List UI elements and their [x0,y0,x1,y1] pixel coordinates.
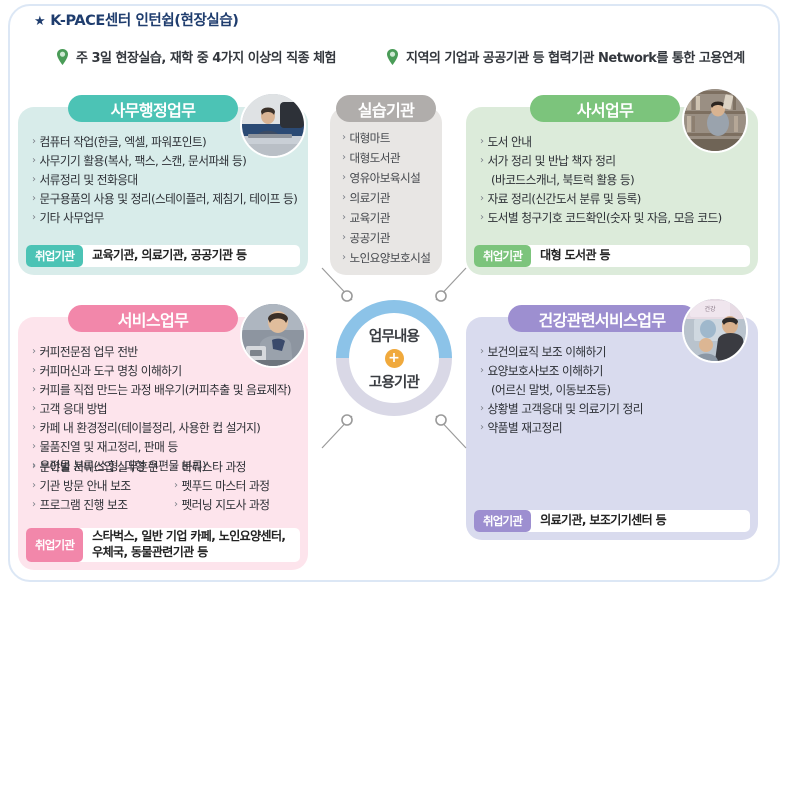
list-item-text: 서가 정리 및 반납 책자 정리 [487,152,615,171]
list-item-text: 펫러닝 지도사 과정 [181,496,269,515]
employer-value: 대형 도서관 등 [531,248,610,264]
bullet-dot-icon: › [480,133,483,150]
donut-hole: 업무내용 + 고용기관 [349,313,439,403]
center-bottom-label: 고용기관 [369,371,419,392]
list-item-text: 노인요양보호시설 [349,249,430,269]
bullet-dot-icon: › [32,152,35,169]
bullet-dot-icon: › [32,438,35,455]
location-pin-icon [386,49,399,65]
list-item-text: 상황별 고객응대 및 의료기기 정리 [487,400,643,419]
list-item-text: (어르신 말벗, 이동보조등) [491,381,611,400]
list-item-text: 공공기관 [349,229,389,249]
employer-badge: 취업기관 [26,528,83,562]
bullet-dot-icon: › [32,209,35,226]
card-office-title: 사무행정업무 [68,95,238,122]
list-item: ›서가 정리 및 반납 책자 정리 [480,152,748,171]
list-item-text: 카페 내 환경정리(테이블정리, 사용한 컵 설거지) [39,419,260,438]
page-title-text: K-PACE센터 인턴쉽(현장실습) [50,13,238,29]
card-library-employers: 취업기관 대형 도서관 등 [474,245,750,267]
list-item-continuation: ›(어르신 말벗, 이동보조등) [480,381,748,400]
list-item: ›대형마트 [342,129,436,149]
bullet-dot-icon: › [480,343,483,360]
list-item: ›의료기관 [342,189,436,209]
list-item-text: 기타 사무업무 [39,209,103,228]
bullet-dot-icon: › [480,190,483,207]
list-item: ›상황별 고객응대 및 의료기기 정리 [480,400,748,419]
list-item: ›우편물 분류(소형, 대형 우편물 분류) [32,457,298,476]
list-item: ›공공기관 [342,229,436,249]
healthcare-class-photo: 건강 [682,297,748,363]
bullet-dot-icon: › [342,249,345,266]
list-item: ›고객 응대 방법 [32,400,298,419]
list-item: ›문구용품의 사용 및 정리(스테이플러, 제침기, 테이프 등) [32,190,298,209]
list-item: ›약품별 재고정리 [480,419,748,438]
list-item: ›물품진열 및 재고정리, 판매 등 [32,438,298,457]
card-health-employers: 취업기관 의료기관, 보조기기센터 등 [474,510,750,532]
list-item-text: 의료기관 [349,189,389,209]
list-item-text: 물품진열 및 재고정리, 판매 등 [39,438,177,457]
list-item: ›카페 내 환경정리(테이블정리, 사용한 컵 설거지) [32,419,298,438]
bullet-dot-icon: › [342,129,345,146]
bullet-dot-icon: › [32,477,35,494]
bullet-dot-icon: › [342,229,345,246]
card-library-title: 사서업무 [530,95,680,122]
employer-value: 스타벅스, 일반 기업 카페, 노인요양센터, 우체국, 동물관련기관 등 [83,529,285,561]
card-health-title: 건강관련서비스업무 [508,305,696,332]
bullet-dot-icon: › [32,457,35,474]
bullet-dot-icon: › [174,477,177,494]
header-bullet-1-text: 주 3일 현장실습, 재학 중 4가지 이상의 직종 체험 [76,47,336,66]
list-item: ›펫러닝 지도사 과정 [174,496,269,515]
card-service-title: 서비스업무 [68,305,238,332]
list-item: ›서류정리 및 전화응대 [32,171,298,190]
list-item-text: 대형도서관 [349,149,400,169]
list-item: ›펫푸드 마스터 과정 [174,477,269,496]
bullet-dot-icon: › [32,343,35,360]
list-item: ›기관 방문 안내 보조 [32,477,158,496]
bullet-dot-icon: › [342,189,345,206]
list-item-continuation: ›(바코드스캐너, 북트럭 활용 등) [480,171,748,190]
bullet-dot-icon: › [32,171,35,188]
card-practice-title: 실습기관 [336,95,436,122]
center-top-label: 업무내용 [369,325,419,346]
star-icon: ★ [34,14,45,29]
list-item-text: 도서별 청구기호 코드확인(숫자 및 자음, 모음 코드) [487,209,721,228]
list-item-text: 서류정리 및 전화응대 [39,171,137,190]
employer-value: 교육기관, 의료기관, 공공기관 등 [83,248,246,264]
list-item-text: 우편물 분류(소형, 대형 우편물 분류) [39,457,206,476]
card-librarian-duties: 사서업무 ›도서 안내 ›서가 정리 및 반납 책자 정리 ›(바코드스캐너, … [466,95,758,275]
employer-badge: 취업기관 [26,245,83,267]
bullet-dot-icon: › [342,209,345,226]
list-item-text: 도서 안내 [487,133,531,152]
bullet-dot-icon: › [480,152,483,169]
infographic-root: ★K-PACE센터 인턴쉽(현장실습) 주 3일 현장실습, 재학 중 4가지 … [0,0,800,598]
employer-badge: 취업기관 [474,510,531,532]
list-item: ›커피를 직접 만드는 과정 배우기(커피추출 및 음료제작) [32,381,298,400]
bullet-dot-icon: › [32,419,35,436]
list-item: ›요양보호사보조 이해하기 [480,362,748,381]
list-item-text: 대형마트 [349,129,389,149]
center-donut: 업무내용 + 고용기관 [336,300,452,416]
list-item-text: 요양보호사보조 이해하기 [487,362,602,381]
list-item: ›노인요양보호시설 [342,249,436,269]
list-item-text: 영유아보육시설 [349,169,420,189]
card-practice-list: ›대형마트 ›대형도서관 ›영유아보육시설 ›의료기관 ›교육기관 ›공공기관 … [342,129,436,269]
list-item-text: 커피를 직접 만드는 과정 배우기(커피추출 및 음료제작) [39,381,290,400]
bullet-dot-icon: › [32,362,35,379]
bullet-dot-icon: › [32,496,35,513]
employer-value: 의료기관, 보조기기센터 등 [531,513,666,529]
list-item-text: (바코드스캐너, 북트럭 활용 등) [491,171,634,190]
office-desk-photo [240,92,306,158]
card-service-duties: 서비스업무 ›커피전문점 업무 전반 ›커피머신과 도구 명칭 이해하기 ›커피… [18,305,308,570]
list-item-text: 보건의료직 보조 이해하기 [487,343,606,362]
card-health-service-duties: 건강관련서비스업무 건강 ›보건의료직 보조 이해하기 ›요양보호사보조 이해하… [466,305,758,540]
bullet-dot-icon: › [342,149,345,166]
card-service-employers: 취업기관 스타벅스, 일반 기업 카페, 노인요양센터, 우체국, 동물관련기관… [26,528,300,562]
employer-badge: 취업기관 [474,245,531,267]
list-item-text: 약품별 재고정리 [487,419,562,438]
list-item-text: 커피전문점 업무 전반 [39,343,137,362]
list-item-text: 교육기관 [349,209,389,229]
bullet-dot-icon: › [174,496,177,513]
bullet-dot-icon: › [32,381,35,398]
plus-icon: + [385,349,404,368]
bullet-dot-icon: › [32,190,35,207]
list-item: ›기타 사무업무 [32,209,298,228]
list-item-text: 커피머신과 도구 명칭 이해하기 [39,362,181,381]
bullet-dot-icon: › [480,209,483,226]
card-office-employers: 취업기관 교육기관, 의료기관, 공공기관 등 [26,245,300,267]
location-pin-icon [56,49,69,65]
header-bullet-2-text: 지역의 기업과 공공기관 등 협력기관 Network를 통한 고용연계 [406,47,745,66]
bullet-dot-icon: › [480,362,483,379]
list-item: ›프로그램 진행 보조 [32,496,158,515]
list-item-text: 프로그램 진행 보조 [39,496,127,515]
list-item-text: 기관 방문 안내 보조 [39,477,130,496]
library-shelf-photo [682,87,748,153]
barista-photo [240,302,306,368]
list-item: ›자료 정리(신간도서 분류 및 등록) [480,190,748,209]
card-practice-institutions: 실습기관 ›대형마트 ›대형도서관 ›영유아보육시설 ›의료기관 ›교육기관 ›… [330,95,442,275]
list-item-text: 자료 정리(신간도서 분류 및 등록) [487,190,640,209]
list-item: ›대형도서관 [342,149,436,169]
bullet-dot-icon: › [480,400,483,417]
list-item-text: 문구용품의 사용 및 정리(스테이플러, 제침기, 테이프 등) [39,190,297,209]
page-title: ★K-PACE센터 인턴쉽(현장실습) [34,9,239,30]
bullet-dot-icon: › [480,419,483,436]
header-bullet-2: 지역의 기업과 공공기관 등 협력기관 Network를 통한 고용연계 [386,47,745,66]
list-item-text: 컴퓨터 작업(한글, 엑셀, 파워포인트) [39,133,206,152]
header-bullet-1: 주 3일 현장실습, 재학 중 4가지 이상의 직종 체험 [56,47,336,66]
svg-text:건강: 건강 [704,305,716,313]
bullet-dot-icon: › [342,169,345,186]
list-item: ›영유아보육시설 [342,169,436,189]
list-item-text: 펫푸드 마스터 과정 [181,477,269,496]
list-item-text: 고객 응대 방법 [39,400,107,419]
list-item-text: 사무기기 활용(복사, 팩스, 스캔, 문서파쇄 등) [39,152,246,171]
list-item: ›교육기관 [342,209,436,229]
bullet-dot-icon: › [32,133,35,150]
list-item: ›도서별 청구기호 코드확인(숫자 및 자음, 모음 코드) [480,209,748,228]
bullet-dot-icon: › [32,400,35,417]
card-office-administration: 사무행정업무 ›컴퓨터 작업(한글, 엑셀, 파워포인트) ›사무기기 활용(복… [18,95,308,275]
